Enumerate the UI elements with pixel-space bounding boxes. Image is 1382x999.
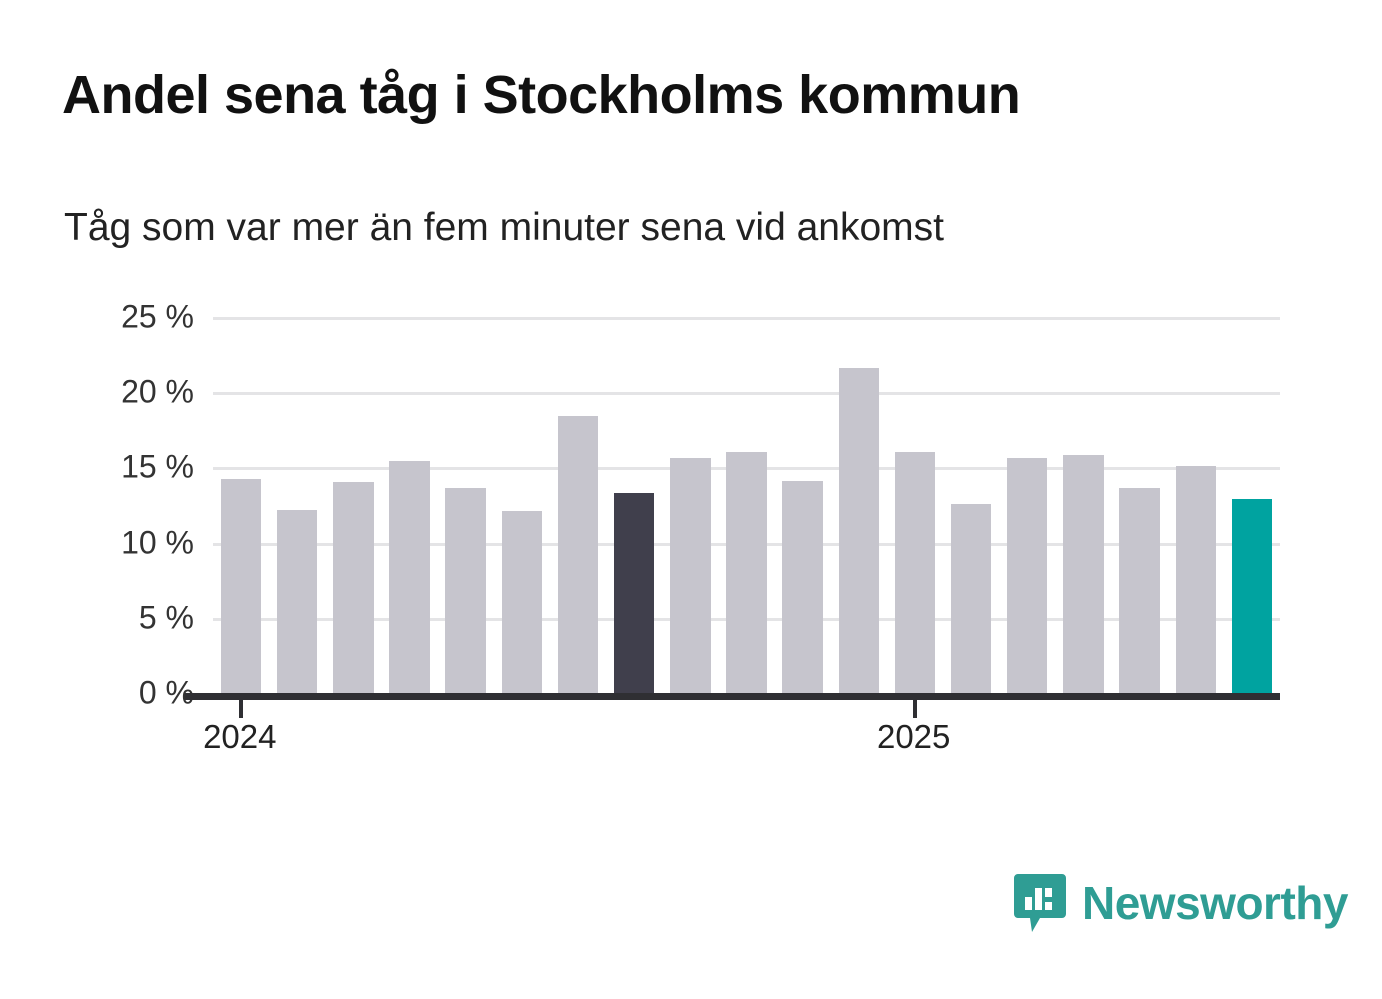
bar[interactable] xyxy=(1007,458,1047,693)
plot-area xyxy=(213,305,1280,693)
x-axis-tick xyxy=(913,700,917,718)
bar[interactable] xyxy=(277,510,317,693)
x-axis-line xyxy=(185,693,1280,700)
bar-chart-speech-bubble-icon xyxy=(1012,872,1068,934)
bar[interactable] xyxy=(614,493,654,693)
bar[interactable] xyxy=(782,481,822,693)
y-axis-tick-label: 25 % xyxy=(121,299,194,336)
bar[interactable] xyxy=(1232,499,1272,693)
newsworthy-logo: Newsworthy xyxy=(1012,872,1348,934)
bar[interactable] xyxy=(1063,455,1103,693)
bar[interactable] xyxy=(445,488,485,693)
bar[interactable] xyxy=(670,458,710,693)
bar[interactable] xyxy=(558,416,598,693)
bar[interactable] xyxy=(333,482,373,693)
y-axis-tick-label: 15 % xyxy=(121,449,194,486)
bar[interactable] xyxy=(1176,466,1216,693)
bar[interactable] xyxy=(951,504,991,694)
logo-wordmark: Newsworthy xyxy=(1082,880,1348,926)
y-axis-tick-label: 10 % xyxy=(121,524,194,561)
chart-page: Andel sena tåg i Stockholms kommun Tåg s… xyxy=(0,0,1382,999)
bar[interactable] xyxy=(502,511,542,693)
bar[interactable] xyxy=(221,479,261,693)
y-axis-tick-label: 5 % xyxy=(139,599,194,636)
gridline xyxy=(213,317,1280,320)
y-axis-tick-label: 20 % xyxy=(121,374,194,411)
gridline xyxy=(213,392,1280,395)
bar[interactable] xyxy=(1119,488,1159,693)
bar[interactable] xyxy=(389,461,429,693)
x-axis-tick-label: 2025 xyxy=(877,718,950,756)
bar[interactable] xyxy=(895,452,935,693)
bar[interactable] xyxy=(839,368,879,693)
bar-chart: 0 %5 %10 %15 %20 %25 % 20242025 xyxy=(0,0,1382,999)
x-axis-tick-label: 2024 xyxy=(203,718,276,756)
x-axis-tick xyxy=(239,700,243,718)
bar[interactable] xyxy=(726,452,766,693)
